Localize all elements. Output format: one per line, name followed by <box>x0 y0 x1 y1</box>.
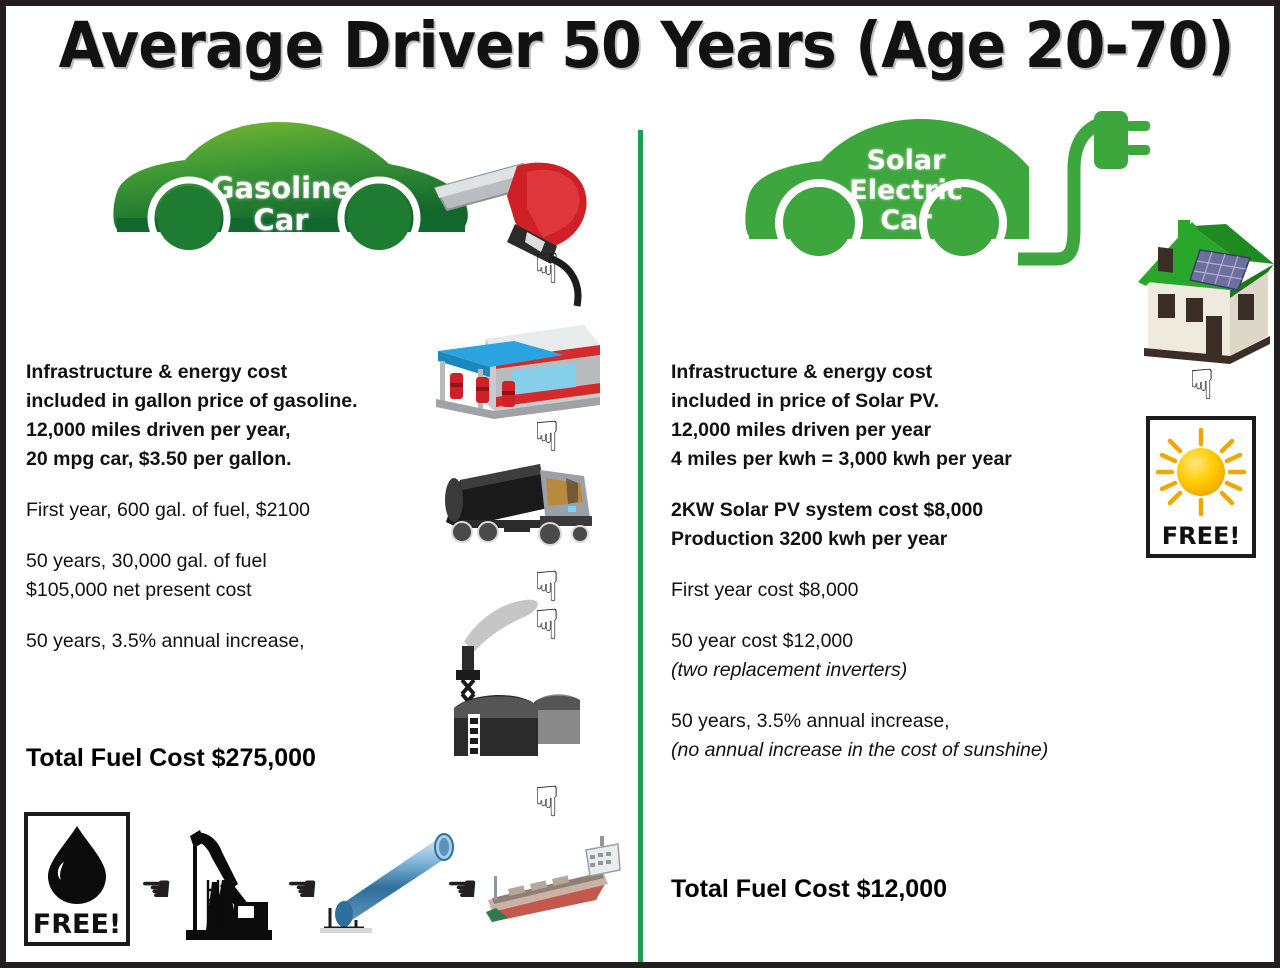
gas-station-icon <box>434 311 604 426</box>
gasoline-text-line: $105,000 net present cost <box>26 576 446 605</box>
solar-electric-car-icon <box>741 109 1031 269</box>
gasoline-text-line: Infrastructure & energy cost <box>26 358 446 387</box>
pointing-hand-down-icon-6: ☟ <box>1189 364 1215 406</box>
gasoline-text-line: 12,000 miles driven per year, <box>26 416 446 445</box>
gasoline-total-fuel-cost: Total Fuel Cost $275,000 <box>26 741 316 775</box>
solar-text-line: (no annual increase in the cost of sunsh… <box>671 736 1141 765</box>
gasoline-car-icon <box>111 118 471 258</box>
text-gap <box>26 605 446 627</box>
solar-text-line: 50 year cost $12,000 <box>671 627 1141 656</box>
solar-text-line: First year cost $8,000 <box>671 576 1141 605</box>
text-gap <box>26 525 446 547</box>
free-label-right: FREE! <box>1150 522 1252 550</box>
text-gap <box>671 685 1141 707</box>
solar-text-line: included in price of Solar PV. <box>671 387 1141 416</box>
solar-text-line: 2KW Solar PV system cost $8,000 <box>671 496 1141 525</box>
oil-pumpjack-icon <box>178 818 278 948</box>
solar-total-fuel-cost: Total Fuel Cost $12,000 <box>671 872 947 906</box>
gasoline-text-line: 50 years, 3.5% annual increase, <box>26 627 446 656</box>
charging-plug-icon <box>1016 109 1151 269</box>
oil-refinery-icon <box>434 596 609 761</box>
solar-text-line: 50 years, 3.5% annual increase, <box>671 707 1141 736</box>
text-gap <box>671 605 1141 627</box>
fuel-nozzle-icon <box>431 146 601 286</box>
gasoline-text-line: included in gallon price of gasoline. <box>26 387 446 416</box>
sun-free-badge: FREE! <box>1146 416 1256 558</box>
solar-text-column: Infrastructure & energy costincluded in … <box>671 358 1141 765</box>
pointing-hand-left-icon-1: ☚ <box>140 872 172 908</box>
text-gap <box>26 474 446 496</box>
gasoline-text-line: 50 years, 30,000 gal. of fuel <box>26 547 446 576</box>
pointing-hand-down-icon: ☟ <box>534 248 560 290</box>
pointing-hand-down-icon-4: ☟ <box>534 604 560 646</box>
solar-text-line: 4 miles per kwh = 3,000 kwh per year <box>671 445 1141 474</box>
solar-house-icon <box>1134 202 1279 362</box>
page-title: Average Driver 50 Years (Age 20-70) <box>51 14 1241 77</box>
gasoline-text-column: Infrastructure & energy costincluded in … <box>26 358 446 656</box>
text-gap <box>671 554 1141 576</box>
text-gap <box>671 474 1141 496</box>
solar-text-line: (two replacement inverters) <box>671 656 1141 685</box>
solar-text-line: 12,000 miles driven per year <box>671 416 1141 445</box>
solar-text-line: Production 3200 kwh per year <box>671 525 1141 554</box>
oil-tanker-ship-icon <box>478 826 628 936</box>
solar-text-line: Infrastructure & energy cost <box>671 358 1141 387</box>
pointing-hand-down-icon-5: ☟ <box>534 781 560 823</box>
gasoline-text-line: First year, 600 gal. of fuel, $2100 <box>26 496 446 525</box>
pipeline-icon <box>316 834 456 934</box>
oil-free-badge: FREE! <box>24 812 130 946</box>
tanker-truck-icon <box>428 446 608 556</box>
column-divider <box>638 130 643 962</box>
pointing-hand-left-icon-3: ☚ <box>446 872 478 908</box>
gasoline-text-line: 20 mpg car, $3.50 per gallon. <box>26 445 446 474</box>
infographic-poster: Average Driver 50 Years (Age 20-70) Gaso… <box>0 0 1280 968</box>
free-label-left: FREE! <box>28 909 126 940</box>
pointing-hand-left-icon-2: ☚ <box>286 872 318 908</box>
